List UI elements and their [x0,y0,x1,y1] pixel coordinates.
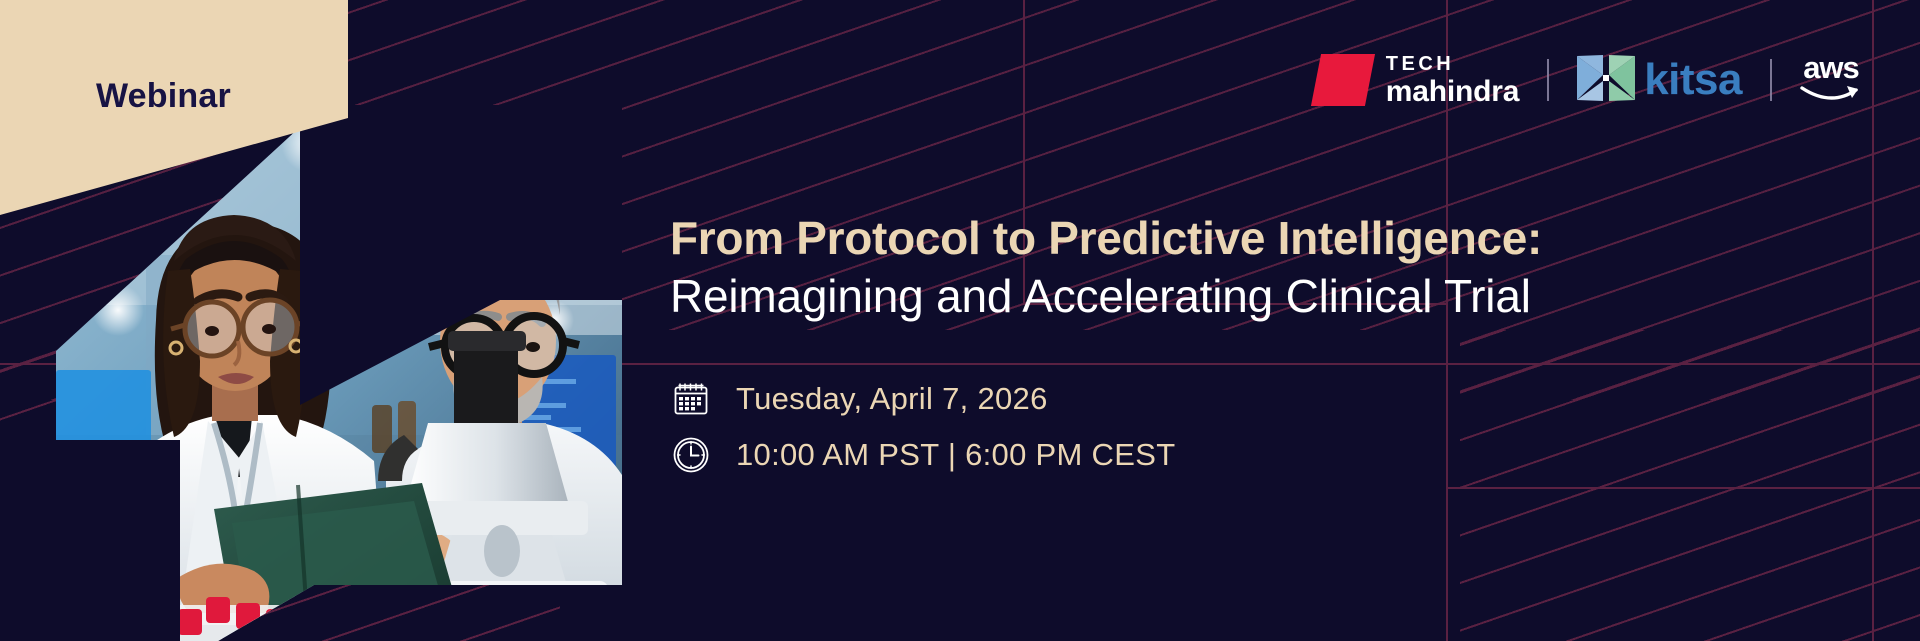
photo-notch-overlay-lower [0,440,180,641]
tech-mahindra-mark-icon [1311,54,1375,106]
kitsa-logo[interactable]: kitsa [1577,53,1742,108]
logo-divider [1547,59,1549,101]
tech-mahindra-logo[interactable]: TECH mahindra [1316,54,1519,107]
grid-line-horizontal [1446,487,1920,489]
aws-smile-icon [1800,83,1862,108]
headline-block: From Protocol to Predictive Intelligence… [670,212,1542,325]
event-date-row: Tuesday, April 7, 2026 [672,380,1175,418]
aws-logo[interactable]: aws [1800,52,1862,108]
webinar-banner: Webinar TECH mahindra [0,0,1920,641]
tech-mahindra-line1: TECH [1386,54,1519,74]
logo-divider [1770,59,1772,101]
event-time-text: 10:00 AM PST | 6:00 PM CEST [736,437,1175,473]
kitsa-butterfly-icon [1577,53,1635,108]
event-time-row: 10:00 AM PST | 6:00 PM CEST [672,436,1175,474]
webinar-badge-label: Webinar [96,77,231,116]
grid-line-vertical [1872,0,1874,641]
kitsa-wordmark: kitsa [1644,58,1742,102]
headline-line-2: Reimagining and Accelerating Clinical Tr… [670,269,1542,324]
tech-mahindra-line2: mahindra [1386,77,1519,107]
event-date-text: Tuesday, April 7, 2026 [736,381,1048,417]
partner-logo-row: TECH mahindra kitsa aws [1316,52,1862,108]
headline-line-1: From Protocol to Predictive Intelligence… [670,212,1542,265]
calendar-icon [672,380,710,418]
tech-mahindra-wordmark: TECH mahindra [1386,54,1519,107]
event-details: Tuesday, April 7, 2026 10:00 AM PST | 6:… [672,380,1175,492]
clock-icon [672,436,710,474]
aws-wordmark: aws [1803,52,1859,83]
